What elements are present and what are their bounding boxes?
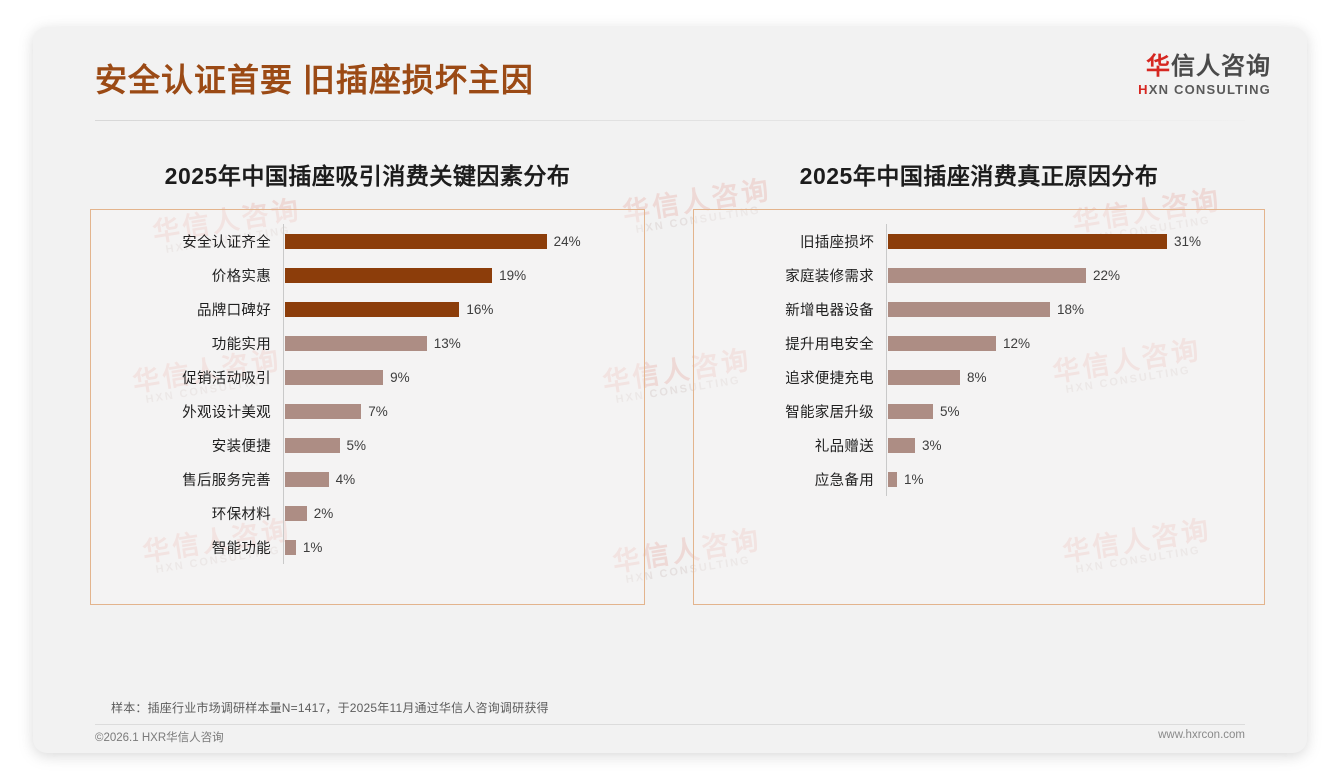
bar-row: 功能实用13% — [91, 326, 644, 360]
bar-value-label: 18% — [1057, 302, 1084, 317]
bar-value-label: 3% — [922, 438, 942, 453]
bar-value-label: 5% — [347, 438, 367, 453]
bar-track: 19% — [283, 258, 644, 292]
bar-row: 环保材料2% — [91, 496, 644, 530]
bar-category-label: 售后服务完善 — [91, 469, 283, 490]
bar-category-label: 安装便捷 — [91, 435, 283, 456]
bar-fill — [888, 234, 1167, 249]
bar-row: 品牌口碑好16% — [91, 292, 644, 326]
bar-category-label: 品牌口碑好 — [91, 299, 283, 320]
bar-fill — [285, 336, 427, 351]
bar-value-label: 1% — [303, 540, 323, 555]
bar-row: 旧插座损坏31% — [694, 224, 1264, 258]
bar-category-label: 促销活动吸引 — [91, 367, 283, 388]
bar-track: 5% — [886, 394, 1264, 428]
slide-header: 安全认证首要 旧插座损坏主因 华信人咨询 HXN CONSULTING — [33, 27, 1307, 123]
bar-row: 安全认证齐全24% — [91, 224, 644, 258]
bar-row: 外观设计美观7% — [91, 394, 644, 428]
bar-value-label: 2% — [314, 506, 334, 521]
logo-chinese: 华信人咨询 — [1138, 54, 1271, 80]
bar-category-label: 提升用电安全 — [694, 333, 886, 354]
bar-fill — [285, 370, 383, 385]
bar-category-label: 智能家居升级 — [694, 401, 886, 422]
footer-divider — [95, 724, 1245, 725]
slide-footer: ©2026.1 HXR华信人咨询 www.hxrcon.com — [33, 729, 1307, 753]
bar-fill — [285, 268, 492, 283]
bar-row: 应急备用1% — [694, 462, 1264, 496]
bar-track: 7% — [283, 394, 644, 428]
copyright-text: ©2026.1 HXR华信人咨询 — [95, 729, 224, 745]
bar-fill — [285, 234, 547, 249]
bar-track: 18% — [886, 292, 1264, 326]
bar-track: 3% — [886, 428, 1264, 462]
bar-category-label: 礼品赠送 — [694, 435, 886, 456]
bar-row: 价格实惠19% — [91, 258, 644, 292]
bar-category-label: 价格实惠 — [91, 265, 283, 286]
logo-english: HXN CONSULTING — [1138, 82, 1271, 97]
bar-row: 安装便捷5% — [91, 428, 644, 462]
bar-fill — [285, 506, 307, 521]
bar-value-label: 16% — [466, 302, 493, 317]
bar-row: 智能家居升级5% — [694, 394, 1264, 428]
logo-en-accent: H — [1138, 82, 1149, 97]
bar-track: 13% — [283, 326, 644, 360]
bar-fill — [888, 268, 1086, 283]
bar-category-label: 应急备用 — [694, 469, 886, 490]
bar-category-label: 智能功能 — [91, 537, 283, 558]
bar-fill — [285, 472, 329, 487]
bar-track: 31% — [886, 224, 1264, 258]
bar-track: 22% — [886, 258, 1264, 292]
page-title: 安全认证首要 旧插座损坏主因 — [95, 55, 534, 101]
bar-track: 16% — [283, 292, 644, 326]
bar-row: 新增电器设备18% — [694, 292, 1264, 326]
bar-value-label: 13% — [434, 336, 461, 351]
bar-category-label: 新增电器设备 — [694, 299, 886, 320]
bar-track: 5% — [283, 428, 644, 462]
slide-card: 华信人咨询 HXN CONSULTING 华信人咨询 HXN CONSULTIN… — [33, 27, 1307, 753]
bar-category-label: 安全认证齐全 — [91, 231, 283, 252]
bar-fill — [888, 370, 960, 385]
bar-value-label: 19% — [499, 268, 526, 283]
chart-panel-left: 安全认证齐全24%价格实惠19%品牌口碑好16%功能实用13%促销活动吸引9%外… — [90, 209, 645, 605]
bar-track: 12% — [886, 326, 1264, 360]
chart-block-left: 2025年中国插座吸引消费关键因素分布 安全认证齐全24%价格实惠19%品牌口碑… — [90, 157, 645, 605]
chart-title-right: 2025年中国插座消费真正原因分布 — [693, 157, 1265, 191]
bar-fill — [285, 438, 340, 453]
bar-category-label: 旧插座损坏 — [694, 231, 886, 252]
bar-row: 追求便捷充电8% — [694, 360, 1264, 394]
bar-fill — [888, 472, 897, 487]
chart-block-right: 2025年中国插座消费真正原因分布 旧插座损坏31%家庭装修需求22%新增电器设… — [693, 157, 1265, 605]
bar-value-label: 22% — [1093, 268, 1120, 283]
sample-footnote: 样本：插座行业市场调研样本量N=1417，于2025年11月通过华信人咨询调研获… — [111, 699, 549, 716]
bar-track: 9% — [283, 360, 644, 394]
bar-row: 家庭装修需求22% — [694, 258, 1264, 292]
bar-value-label: 5% — [940, 404, 960, 419]
brand-logo: 华信人咨询 HXN CONSULTING — [1138, 54, 1271, 97]
bar-fill — [285, 540, 296, 555]
bar-track: 8% — [886, 360, 1264, 394]
bar-row: 促销活动吸引9% — [91, 360, 644, 394]
bar-track: 24% — [283, 224, 644, 258]
bar-track: 1% — [886, 462, 1264, 496]
bar-value-label: 31% — [1174, 234, 1201, 249]
logo-cn-accent: 华 — [1146, 53, 1171, 80]
logo-en-rest: XN CONSULTING — [1149, 82, 1271, 97]
bar-category-label: 追求便捷充电 — [694, 367, 886, 388]
bar-track: 4% — [283, 462, 644, 496]
bar-fill — [888, 404, 933, 419]
bar-category-label: 外观设计美观 — [91, 401, 283, 422]
header-divider — [95, 120, 1245, 121]
bar-value-label: 4% — [336, 472, 356, 487]
bar-fill — [888, 336, 996, 351]
bar-row: 礼品赠送3% — [694, 428, 1264, 462]
bar-value-label: 12% — [1003, 336, 1030, 351]
bar-value-label: 9% — [390, 370, 410, 385]
bar-fill — [888, 438, 915, 453]
bar-row: 智能功能1% — [91, 530, 644, 564]
bar-value-label: 24% — [554, 234, 581, 249]
chart-title-left: 2025年中国插座吸引消费关键因素分布 — [90, 157, 645, 191]
bar-category-label: 家庭装修需求 — [694, 265, 886, 286]
bar-value-label: 8% — [967, 370, 987, 385]
website-url[interactable]: www.hxrcon.com — [1158, 729, 1245, 741]
logo-cn-rest: 信人咨询 — [1171, 53, 1271, 80]
bar-track: 1% — [283, 530, 644, 564]
bar-row: 售后服务完善4% — [91, 462, 644, 496]
bar-category-label: 环保材料 — [91, 503, 283, 524]
chart-panel-right: 旧插座损坏31%家庭装修需求22%新增电器设备18%提升用电安全12%追求便捷充… — [693, 209, 1265, 605]
bar-fill — [285, 404, 361, 419]
bar-fill — [888, 302, 1050, 317]
bar-track: 2% — [283, 496, 644, 530]
bar-category-label: 功能实用 — [91, 333, 283, 354]
bar-value-label: 7% — [368, 404, 388, 419]
bar-row: 提升用电安全12% — [694, 326, 1264, 360]
bar-fill — [285, 302, 459, 317]
bar-value-label: 1% — [904, 472, 924, 487]
